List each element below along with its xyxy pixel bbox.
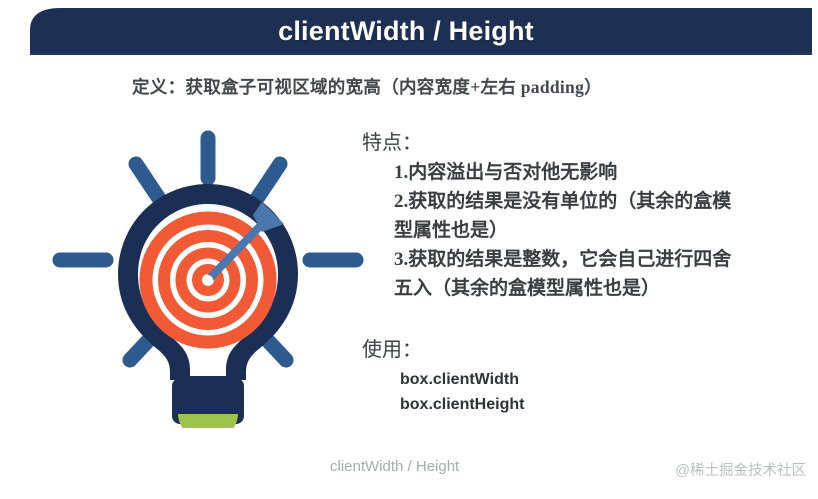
usage-code-clientheight: box.clientHeight xyxy=(400,392,802,417)
usage-code-clientwidth: box.clientWidth xyxy=(400,367,802,392)
definition-text: 定义：获取盒子可视区域的宽高（内容宽度+左右 padding） xyxy=(132,74,602,99)
feature-item-2: 2.获取的结果是没有单位的（其余的盒模 型属性也是） xyxy=(394,187,802,245)
footer-page-label: clientWidth / Height xyxy=(330,458,459,475)
page-title: clientWidth / Height xyxy=(0,12,812,50)
feature-item-1: 1.内容溢出与否对他无影响 xyxy=(394,158,802,187)
slide-canvas: clientWidth / Height 定义：获取盒子可视区域的宽高（内容宽度… xyxy=(0,0,818,499)
usage-heading: 使用： xyxy=(362,335,802,365)
features-list: 1.内容溢出与否对他无影响 2.获取的结果是没有单位的（其余的盒模 型属性也是）… xyxy=(362,158,802,303)
ray-top-right xyxy=(256,164,280,200)
usage-code-list: box.clientWidth box.clientHeight xyxy=(362,367,802,417)
lightbulb-target-icon xyxy=(48,128,368,428)
usage-block: 使用： box.clientWidth box.clientHeight xyxy=(362,335,802,417)
bulb-tip-green xyxy=(178,414,238,428)
feature-item-3: 3.获取的结果是整数，它会自己进行四舍 五入（其余的盒模型属性也是） xyxy=(394,245,802,303)
content-column: 特点： 1.内容溢出与否对他无影响 2.获取的结果是没有单位的（其余的盒模 型属… xyxy=(362,128,802,417)
footer-watermark: @稀土掘金技术社区 xyxy=(675,459,806,480)
ray-top-left xyxy=(136,164,160,200)
arrow-tip xyxy=(203,275,213,285)
features-heading: 特点： xyxy=(362,128,802,158)
